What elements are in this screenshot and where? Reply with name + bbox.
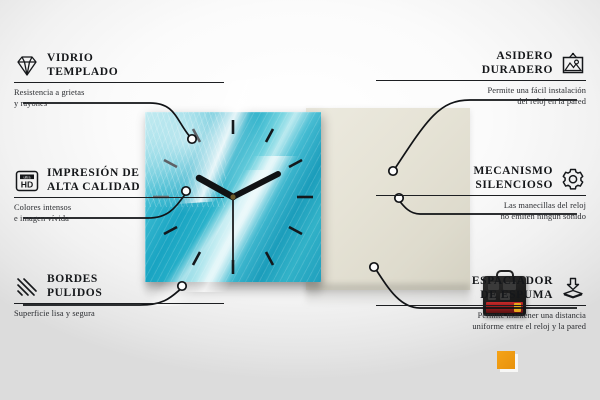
divider <box>14 82 224 83</box>
feature-desc-line2: y rayones <box>14 98 224 109</box>
feature-title-line2: ALTA CALIDAD <box>47 181 140 195</box>
divider <box>14 197 224 198</box>
feature-title-line1: VIDRIO <box>47 52 118 66</box>
feature-desc-line1: Permite una fácil instalación <box>376 85 586 96</box>
gear-icon <box>560 167 586 191</box>
feature-desc-line1: Superficie lisa y segura <box>14 308 224 319</box>
divider <box>14 303 224 304</box>
feature-title-line2: PULIDOS <box>47 287 102 301</box>
feature-title-line1: BORDES <box>47 273 102 287</box>
feature-title-line2: DE ESPUMA <box>472 289 553 303</box>
divider <box>376 80 586 81</box>
feature-desc-line2: e imagen vívida <box>14 213 224 224</box>
feature-desc-line2: uniforme entre el reloj y la pared <box>376 321 586 332</box>
infographic-canvas: VIDRIO TEMPLADO Resistencia a grietas y … <box>0 0 600 400</box>
feature-title-line2: TEMPLADO <box>47 66 118 80</box>
picture-frame-hanger-icon <box>560 52 586 76</box>
feature-desc-line2: del reloj en la pared <box>376 96 586 107</box>
feature-title-line2: DURADERO <box>482 64 553 78</box>
feature-desc-line1: Permite mantener una distancia <box>376 310 586 321</box>
feature-title-line1: IMPRESIÓN DE <box>47 167 140 181</box>
polished-edges-icon <box>14 275 40 299</box>
feature-title-line1: MECANISMO <box>473 165 553 179</box>
divider <box>376 305 586 306</box>
feature-callout-vidrio-templado: VIDRIO TEMPLADO Resistencia a grietas y … <box>14 52 224 110</box>
divider <box>376 195 586 196</box>
diamond-icon <box>14 54 40 78</box>
feature-callout-bordes-pulidos: BORDES PULIDOS Superficie lisa y segura <box>14 273 224 319</box>
foam-spacer-arrow-icon <box>560 277 586 301</box>
feature-callout-espaciador-de-espuma: ESPACIADOR DE ESPUMA Permite mantener un… <box>376 275 586 333</box>
feature-callout-asidero-duradero: ASIDERO DURADERO Permite una fácil insta… <box>376 50 586 108</box>
feature-title-line2: SILENCIOSO <box>473 179 553 193</box>
feature-callout-mecanismo-silencioso: MECANISMO SILENCIOSO Las manecillas del … <box>376 165 586 223</box>
hd-label: HD <box>21 179 33 189</box>
feature-desc-line1: Las manecillas del reloj <box>376 200 586 211</box>
feature-callout-impresion-alta-calidad: ultra HD IMPRESIÓN DE ALTA CALIDAD Color… <box>14 167 224 225</box>
feature-title-line1: ASIDERO <box>482 50 553 64</box>
feature-desc-line2: no emiten ningún sonido <box>376 211 586 222</box>
feature-desc-line1: Colores intensos <box>14 202 224 213</box>
ultra-hd-badge-icon: ultra HD <box>14 169 40 193</box>
feature-desc-line1: Resistencia a grietas <box>14 87 224 98</box>
feature-title-line1: ESPACIADOR <box>472 275 553 289</box>
